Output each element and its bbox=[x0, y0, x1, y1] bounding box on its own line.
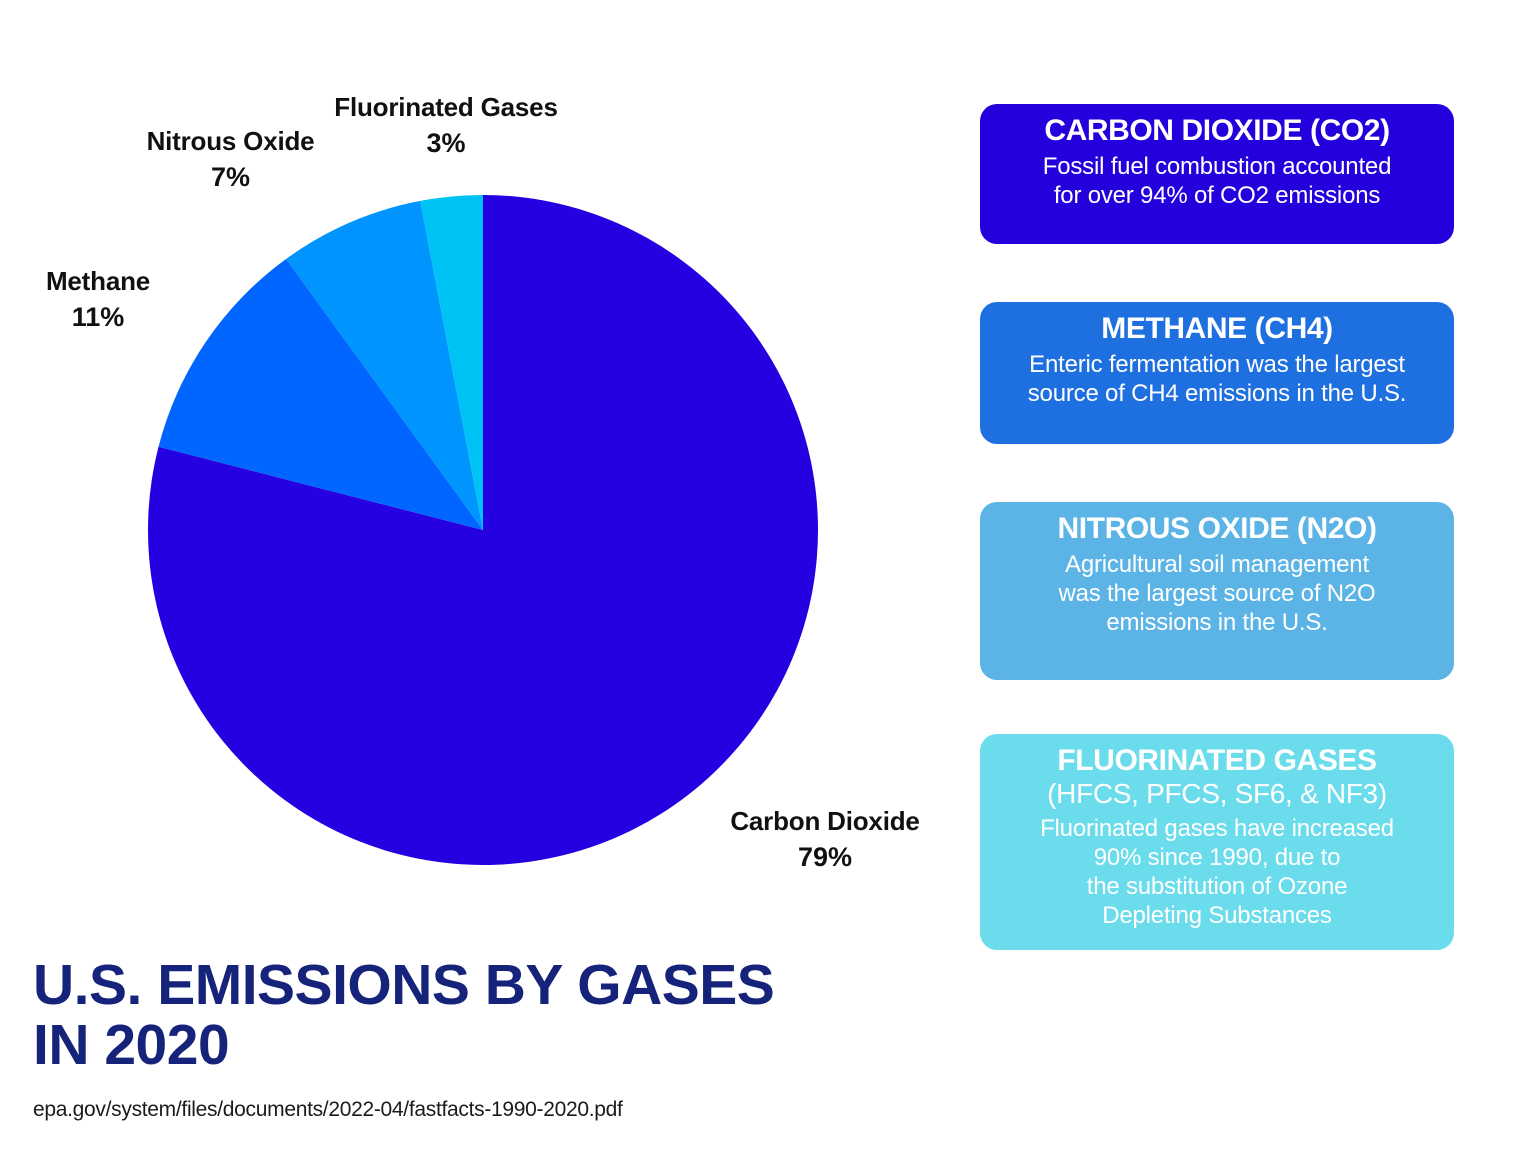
legend-card-carbon-dioxide[interactable]: CARBON DIOXIDE (CO2) Fossil fuel combust… bbox=[980, 104, 1454, 244]
source-url: epa.gov/system/files/documents/2022-04/f… bbox=[33, 1098, 913, 1122]
pie-slices bbox=[148, 195, 818, 865]
pie-label-methane-value: 11% bbox=[14, 302, 182, 334]
pie-chart-svg bbox=[148, 195, 818, 865]
pie-chart-area: Fluorinated Gases 3% Nitrous Oxide 7% Me… bbox=[0, 0, 960, 920]
legend-card-methane-body: Enteric fermentation was the largest sou… bbox=[994, 350, 1440, 409]
legend-card-nitrous-oxide[interactable]: NITROUS OXIDE (N2O) Agricultural soil ma… bbox=[980, 502, 1454, 680]
legend-card-carbon-dioxide-title: CARBON DIOXIDE (CO2) bbox=[994, 114, 1440, 148]
pie-label-carbon-dioxide: Carbon Dioxide 79% bbox=[700, 806, 950, 874]
title-block: U.S. EMISSIONS BY GASES IN 2020 epa.gov/… bbox=[33, 955, 913, 1122]
pie-label-methane-name: Methane bbox=[14, 266, 182, 297]
pie-label-fluorinated-gases-name: Fluorinated Gases bbox=[322, 92, 570, 123]
pie-label-carbon-dioxide-name: Carbon Dioxide bbox=[700, 806, 950, 837]
legend-card-nitrous-oxide-title: NITROUS OXIDE (N2O) bbox=[994, 512, 1440, 546]
pie-label-fluorinated-gases: Fluorinated Gases 3% bbox=[322, 92, 570, 160]
legend-card-fluorinated-gases-body: Fluorinated gases have increased 90% sin… bbox=[994, 814, 1440, 931]
legend-card-methane[interactable]: METHANE (CH4) Enteric fermentation was t… bbox=[980, 302, 1454, 444]
infographic-canvas: Fluorinated Gases 3% Nitrous Oxide 7% Me… bbox=[0, 0, 1536, 1152]
page-title: U.S. EMISSIONS BY GASES IN 2020 bbox=[33, 955, 913, 1076]
legend-card-carbon-dioxide-body: Fossil fuel combustion accounted for ove… bbox=[994, 152, 1440, 211]
pie-label-nitrous-oxide-value: 7% bbox=[128, 162, 333, 194]
pie-label-carbon-dioxide-value: 79% bbox=[700, 842, 950, 874]
legend-card-fluorinated-gases[interactable]: FLUORINATED GASES (HFCS, PFCS, SF6, & NF… bbox=[980, 734, 1454, 950]
pie-label-nitrous-oxide: Nitrous Oxide 7% bbox=[128, 126, 333, 194]
pie-label-fluorinated-gases-value: 3% bbox=[322, 128, 570, 160]
legend-card-fluorinated-gases-subtitle: (HFCS, PFCS, SF6, & NF3) bbox=[994, 778, 1440, 810]
pie-label-methane: Methane 11% bbox=[14, 266, 182, 334]
pie-label-nitrous-oxide-name: Nitrous Oxide bbox=[128, 126, 333, 157]
legend-card-fluorinated-gases-title: FLUORINATED GASES bbox=[994, 744, 1440, 778]
legend-card-methane-title: METHANE (CH4) bbox=[994, 312, 1440, 346]
legend-card-nitrous-oxide-body: Agricultural soil management was the lar… bbox=[994, 550, 1440, 638]
legend-card-list: CARBON DIOXIDE (CO2) Fossil fuel combust… bbox=[980, 0, 1454, 1152]
